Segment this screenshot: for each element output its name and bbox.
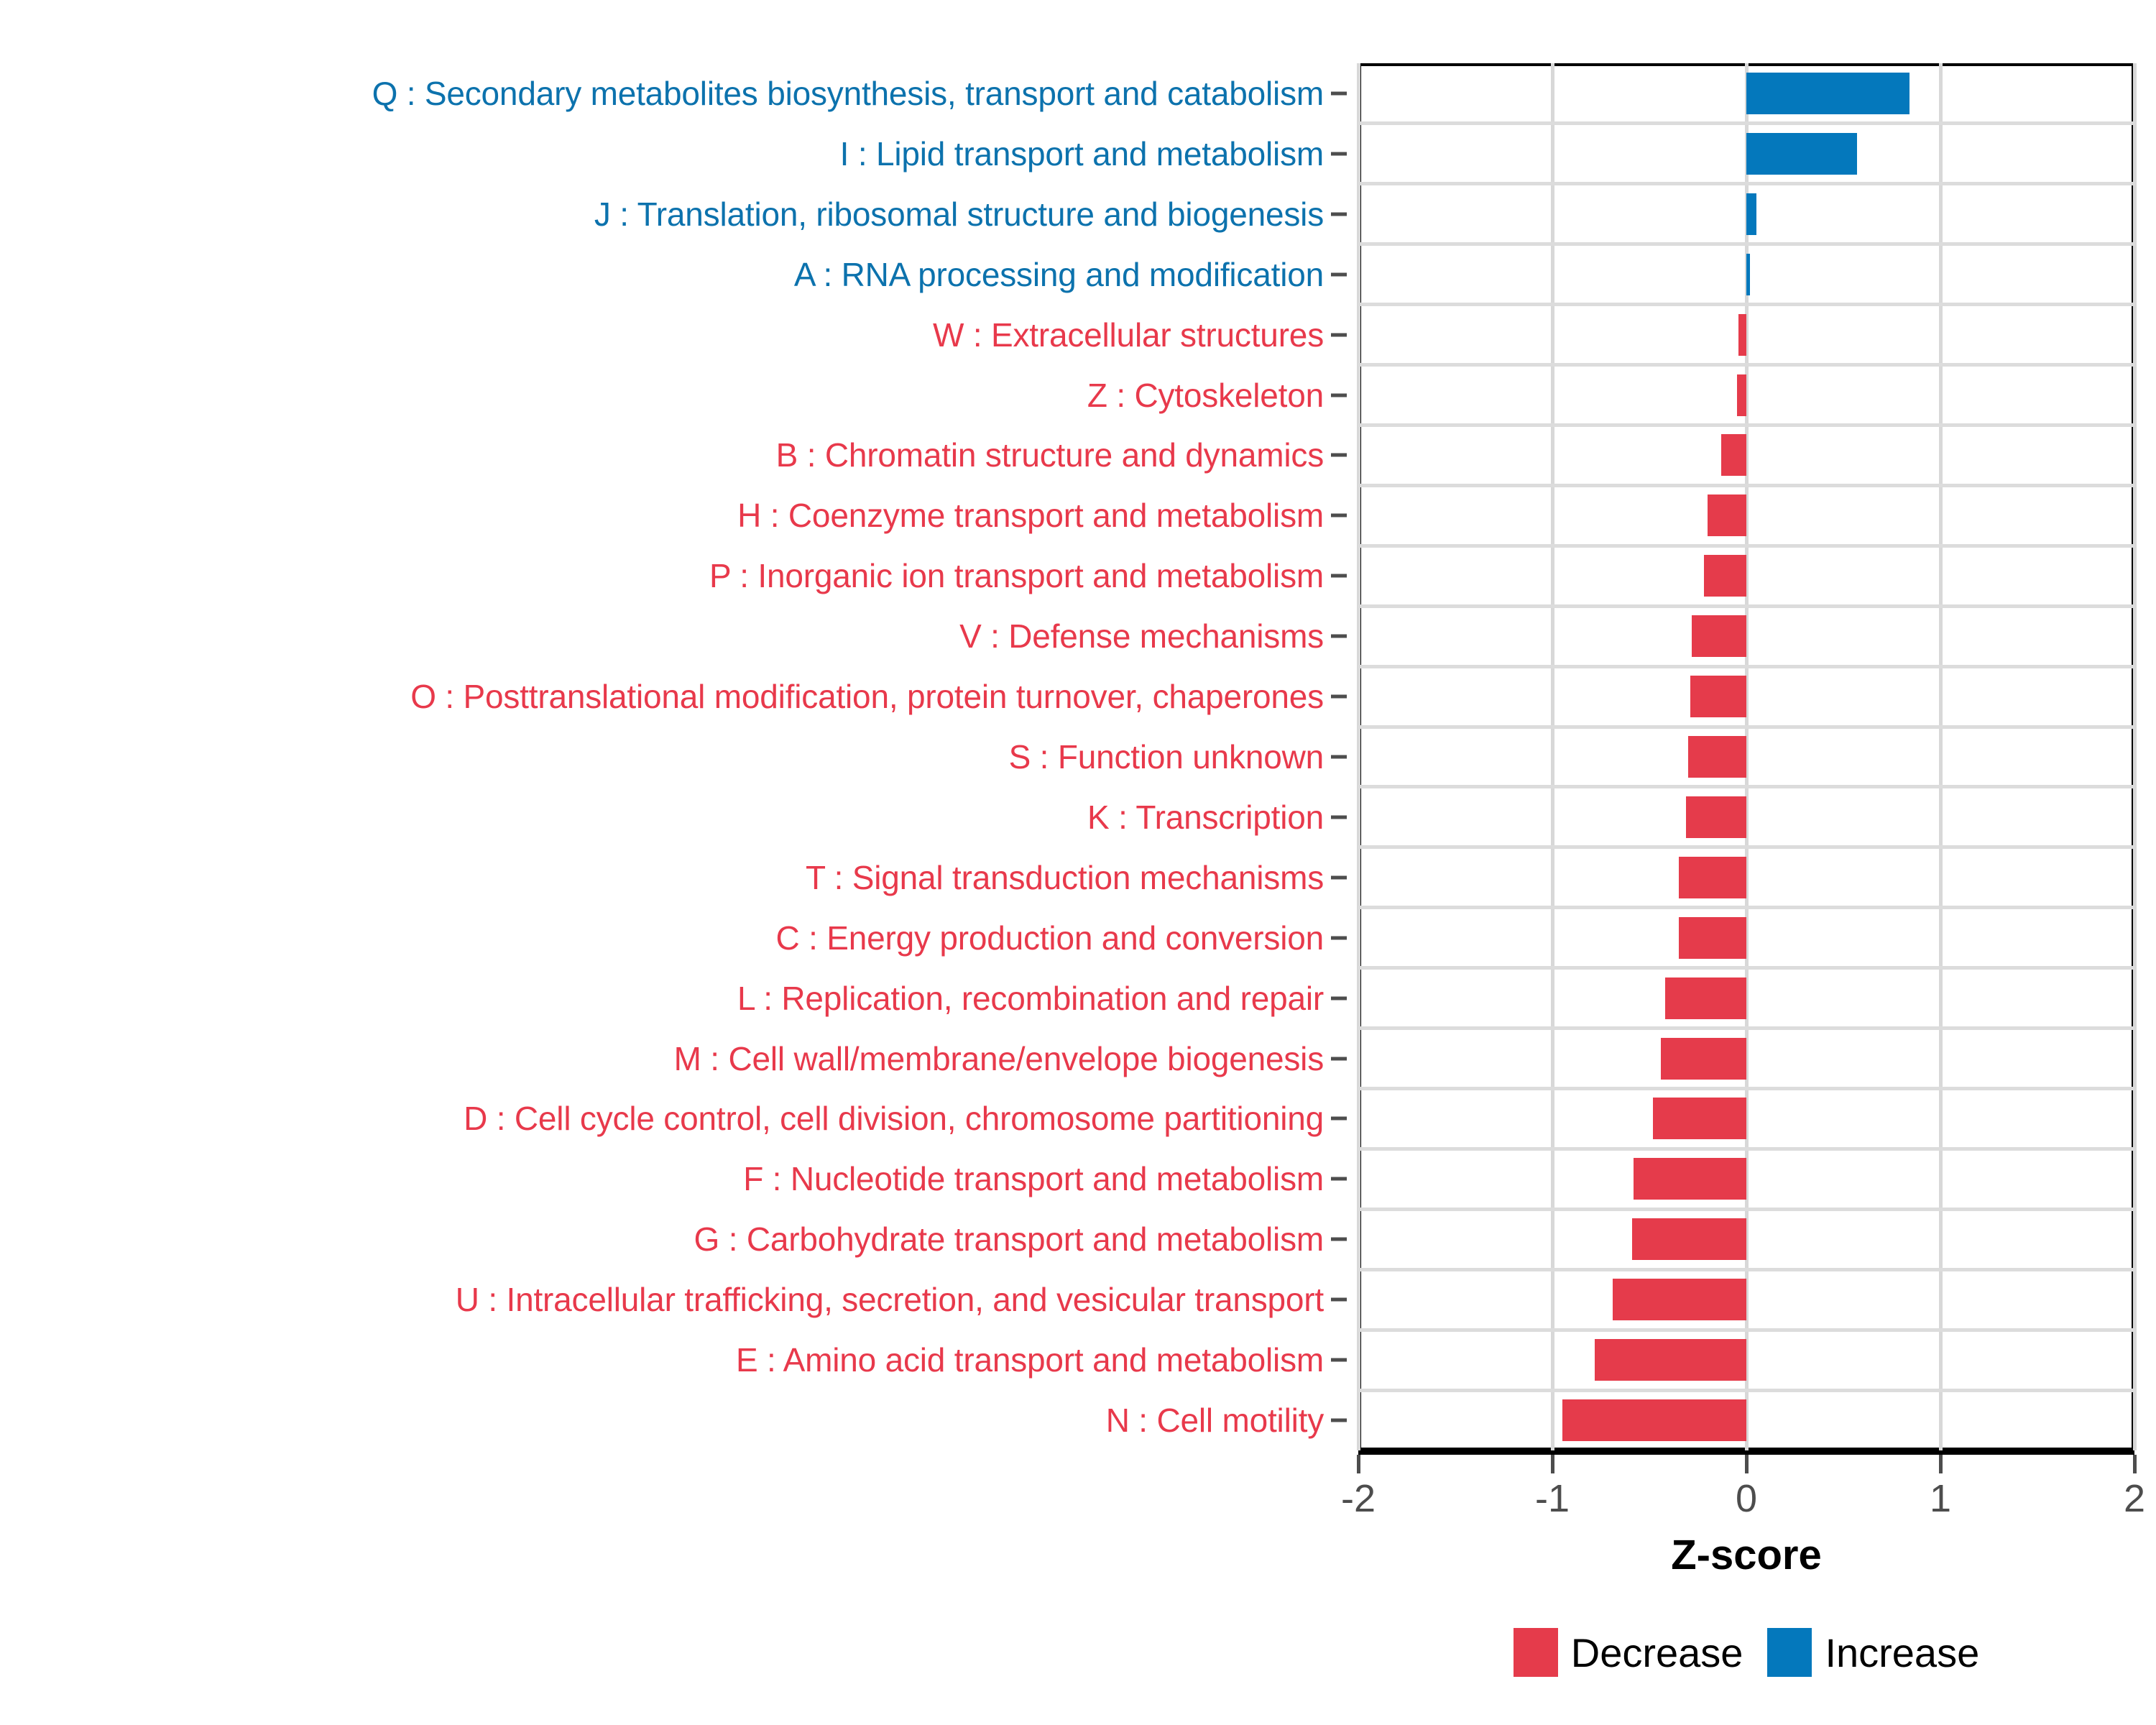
legend: Decrease Increase [1358, 1628, 2134, 1677]
bar-row [1358, 485, 2134, 546]
bar-row [1358, 425, 2134, 485]
category-label: M : Cell wall/membrane/envelope biogenes… [674, 1042, 1324, 1075]
y-axis-tick [1331, 1298, 1347, 1302]
x-axis-tick [1939, 1455, 1943, 1473]
x-axis-tick-label: -2 [1341, 1476, 1376, 1521]
x-axis-tick-label: 1 [1930, 1476, 1951, 1521]
bar-row [1358, 124, 2134, 184]
bar-row [1358, 1269, 2134, 1330]
legend-item-increase[interactable]: Increase [1767, 1628, 1979, 1677]
y-axis-tick [1331, 1117, 1347, 1121]
x-axis-tick [1357, 1455, 1360, 1473]
y-axis-tick [1331, 695, 1347, 699]
y-axis-tick [1331, 1358, 1347, 1362]
category-label: U : Intracellular trafficking, secretion… [456, 1283, 1324, 1316]
y-axis-tick [1331, 936, 1347, 939]
bar[interactable] [1737, 374, 1747, 416]
y-axis-tick [1331, 212, 1347, 216]
bar[interactable] [1595, 1339, 1746, 1381]
bar[interactable] [1679, 917, 1747, 959]
bar[interactable] [1690, 676, 1746, 717]
category-label: J : Translation, ribosomal structure and… [594, 198, 1324, 231]
legend-swatch-increase [1767, 1628, 1812, 1677]
bar-row [1358, 1209, 2134, 1269]
bar[interactable] [1686, 796, 1746, 838]
bar-row [1358, 1390, 2134, 1450]
y-axis-tick [1331, 1177, 1347, 1181]
bar-series [1358, 63, 2134, 1450]
x-axis-tick-label: 2 [2124, 1476, 2145, 1521]
category-label: K : Transcription [1087, 801, 1324, 834]
bar[interactable] [1632, 1218, 1746, 1260]
y-axis-tick [1331, 152, 1347, 155]
category-label: P : Inorganic ion transport and metaboli… [709, 559, 1324, 592]
bar-row [1358, 847, 2134, 908]
x-axis-title: Z-score [1358, 1531, 2134, 1579]
category-label: B : Chromatin structure and dynamics [776, 438, 1324, 471]
bar[interactable] [1746, 193, 1756, 235]
category-label: Q : Secondary metabolites biosynthesis, … [372, 77, 1324, 110]
bar-row [1358, 63, 2134, 124]
chart-root: Q : Secondary metabolites biosynthesis, … [0, 0, 2156, 1725]
bar-row [1358, 305, 2134, 365]
bar-row [1358, 1149, 2134, 1209]
category-axis-labels: Q : Secondary metabolites biosynthesis, … [0, 63, 1351, 1450]
y-axis-tick [1331, 393, 1347, 397]
bar[interactable] [1665, 977, 1746, 1019]
bar-row [1358, 787, 2134, 847]
bar[interactable] [1738, 314, 1746, 356]
y-axis-tick [1331, 91, 1347, 95]
bar[interactable] [1562, 1399, 1747, 1441]
bar-row [1358, 546, 2134, 606]
category-label: A : RNA processing and modification [794, 258, 1324, 291]
category-label: I : Lipid transport and metabolism [840, 137, 1324, 170]
category-label: G : Carbohydrate transport and metabolis… [694, 1223, 1324, 1256]
bar-row [1358, 244, 2134, 305]
bar-row [1358, 606, 2134, 666]
legend-item-decrease[interactable]: Decrease [1514, 1628, 1743, 1677]
bar[interactable] [1708, 494, 1746, 536]
bar-row [1358, 184, 2134, 244]
category-label: H : Coenzyme transport and metabolism [737, 499, 1324, 532]
bar[interactable] [1746, 73, 1909, 114]
category-label: Z : Cytoskeleton [1087, 379, 1324, 412]
bar[interactable] [1692, 615, 1746, 657]
x-axis-tick [1745, 1455, 1749, 1473]
y-axis-tick [1331, 333, 1347, 336]
bar[interactable] [1721, 434, 1746, 476]
bar-row [1358, 365, 2134, 425]
category-label: E : Amino acid transport and metabolism [736, 1343, 1324, 1376]
x-axis-tick [2133, 1455, 2137, 1473]
bar-row [1358, 727, 2134, 787]
bar-row [1358, 908, 2134, 968]
x-axis-tick [1551, 1455, 1554, 1473]
y-axis-tick [1331, 514, 1347, 517]
category-label: T : Signal transduction mechanisms [806, 861, 1324, 894]
legend-swatch-decrease [1514, 1628, 1558, 1677]
bar-row [1358, 666, 2134, 727]
y-axis-tick [1331, 272, 1347, 276]
bar[interactable] [1746, 133, 1857, 175]
bar[interactable] [1704, 555, 1746, 597]
y-axis-tick [1331, 574, 1347, 578]
y-axis-tick [1331, 1057, 1347, 1060]
category-label: D : Cell cycle control, cell division, c… [464, 1102, 1324, 1135]
x-axis-tick-label: 0 [1736, 1476, 1757, 1521]
y-axis-tick [1331, 815, 1347, 819]
y-axis-tick [1331, 454, 1347, 457]
bar-row [1358, 968, 2134, 1029]
bar[interactable] [1634, 1158, 1746, 1200]
y-axis-tick [1331, 996, 1347, 1000]
category-label: O : Posttranslational modification, prot… [410, 680, 1324, 713]
bar[interactable] [1661, 1038, 1746, 1080]
category-label: F : Nucleotide transport and metabolism [743, 1162, 1324, 1195]
category-label: N : Cell motility [1106, 1404, 1324, 1437]
legend-label-decrease: Decrease [1571, 1629, 1743, 1676]
category-label: L : Replication, recombination and repai… [737, 982, 1324, 1015]
bar-row [1358, 1089, 2134, 1149]
y-axis-tick [1331, 1419, 1347, 1422]
y-axis-tick [1331, 1238, 1347, 1241]
x-axis-tick-label: -1 [1535, 1476, 1570, 1521]
category-label: C : Energy production and conversion [776, 921, 1324, 954]
category-label: W : Extracellular structures [933, 318, 1324, 351]
y-axis-tick [1331, 635, 1347, 638]
bar[interactable] [1688, 736, 1746, 778]
category-label: V : Defense mechanisms [959, 620, 1324, 653]
bar-row [1358, 1330, 2134, 1390]
y-axis-tick [1331, 755, 1347, 759]
bar[interactable] [1613, 1279, 1746, 1320]
bar[interactable] [1653, 1098, 1746, 1139]
y-axis-tick [1331, 875, 1347, 879]
bar-row [1358, 1029, 2134, 1089]
plot-panel-wrapper [1358, 63, 2134, 1450]
bar[interactable] [1679, 857, 1747, 898]
legend-label-increase: Increase [1825, 1629, 1979, 1676]
bar[interactable] [1746, 254, 1750, 295]
category-label: S : Function unknown [1009, 740, 1324, 773]
